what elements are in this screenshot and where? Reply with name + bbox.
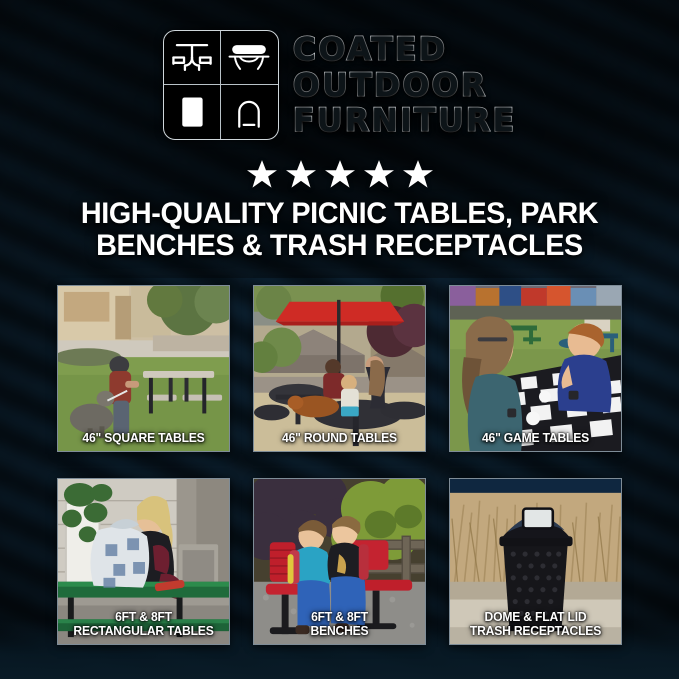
logo-icon-grid bbox=[163, 30, 279, 140]
product-tile-square-tables[interactable]: 46" SQUARE TABLES bbox=[57, 285, 230, 452]
brand-logo: COATED OUTDOOR FURNITURE bbox=[0, 26, 679, 144]
caption-line-1: DOME & FLAT LID bbox=[455, 610, 617, 624]
caption-line-2: BENCHES bbox=[259, 624, 421, 638]
bench-icon bbox=[221, 31, 278, 85]
brand-name: COATED OUTDOOR FURNITURE bbox=[293, 32, 516, 138]
caption-line-2: TRASH RECEPTACLES bbox=[455, 624, 617, 638]
product-tile-round-tables[interactable]: 46" ROUND TABLES bbox=[253, 285, 426, 452]
star-icon bbox=[325, 160, 355, 189]
caption-line-1: 46" SQUARE TABLES bbox=[63, 431, 225, 445]
product-tile-trash-receptacles[interactable]: DOME & FLAT LID TRASH RECEPTACLES bbox=[449, 478, 622, 645]
product-photo-round-tables bbox=[254, 286, 425, 451]
product-caption-square-tables: 46" SQUARE TABLES bbox=[60, 431, 227, 445]
product-poster: COATED OUTDOOR FURNITURE HIGH-QUALITY PI… bbox=[0, 0, 679, 679]
product-tile-rectangular-tables[interactable]: 6FT & 8FT RECTANGULAR TABLES bbox=[57, 478, 230, 645]
brand-name-line-2: OUTDOOR bbox=[293, 68, 516, 103]
trash-receptacle-icon bbox=[164, 85, 221, 139]
star-rating bbox=[0, 157, 679, 191]
product-caption-game-tables: 46" GAME TABLES bbox=[452, 431, 619, 445]
product-photo-game-tables bbox=[450, 286, 621, 451]
picnic-table-icon bbox=[164, 31, 221, 85]
product-caption-round-tables: 46" ROUND TABLES bbox=[256, 431, 423, 445]
product-grid: 46" SQUARE TABLES bbox=[57, 285, 623, 645]
star-icon bbox=[403, 160, 433, 189]
caption-line-1: 6FT & 8FT bbox=[63, 610, 225, 624]
caption-line-2: RECTANGULAR TABLES bbox=[63, 624, 225, 638]
product-tile-benches[interactable]: 6FT & 8FT BENCHES bbox=[253, 478, 426, 645]
star-icon bbox=[364, 160, 394, 189]
product-photo-square-tables bbox=[58, 286, 229, 451]
product-caption-benches: 6FT & 8FT BENCHES bbox=[256, 610, 423, 638]
caption-line-1: 46" GAME TABLES bbox=[455, 431, 617, 445]
brand-name-line-1: COATED bbox=[293, 32, 516, 67]
caption-line-1: 46" ROUND TABLES bbox=[259, 431, 421, 445]
star-icon bbox=[247, 160, 277, 189]
star-icon bbox=[286, 160, 316, 189]
brand-name-line-3: FURNITURE bbox=[293, 103, 516, 138]
bike-rack-arch-icon bbox=[221, 85, 278, 139]
product-tile-game-tables[interactable]: 46" GAME TABLES bbox=[449, 285, 622, 452]
page-title-line-1: HIGH-QUALITY PICNIC TABLES, PARK bbox=[42, 198, 636, 230]
page-title: HIGH-QUALITY PICNIC TABLES, PARK BENCHES… bbox=[30, 198, 649, 263]
page-title-line-2: BENCHES & TRASH RECEPTACLES bbox=[42, 230, 636, 262]
product-caption-trash-receptacles: DOME & FLAT LID TRASH RECEPTACLES bbox=[452, 610, 619, 638]
caption-line-1: 6FT & 8FT bbox=[259, 610, 421, 624]
product-caption-rectangular-tables: 6FT & 8FT RECTANGULAR TABLES bbox=[60, 610, 227, 638]
